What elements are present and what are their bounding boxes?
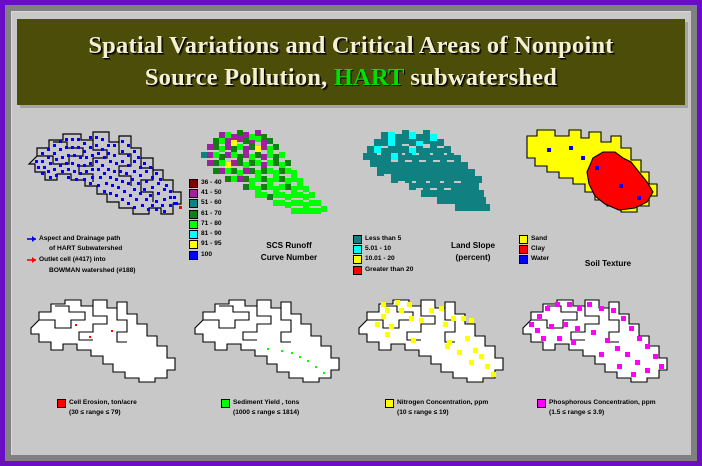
swatch-less-than-5 (353, 235, 362, 244)
panel-aspect-drainage: Aspect and Drainage path of HART Subwate… (23, 122, 189, 282)
legend-caption: Cell Erosion, ton/acre (30 ≤ range ≤ 79) (69, 398, 137, 418)
panel-soil-texture: Sand Clay Water Soil Texture (515, 122, 681, 282)
map-phosphorous-concentration (515, 294, 681, 394)
legend-label: 71 - 80 (201, 219, 222, 229)
legend-item: Greater than 20 (353, 265, 413, 275)
legend-line-2: of HART Subwatershed (39, 244, 122, 254)
swatch-greater-than-20 (353, 266, 362, 275)
swatch-water (519, 255, 528, 264)
legend-line-1: Outlet cell (#417) into (39, 255, 135, 265)
swatch-71-80 (189, 220, 198, 229)
swatch-36-40 (189, 179, 198, 188)
title-line-2: (percent) (431, 252, 515, 264)
caption-line-2: (10 ≤ range ≤ 19) (397, 408, 488, 418)
panel-sediment-yield: Sediment Yield , tons (1000 ≤ range ≤ 18… (187, 294, 353, 450)
map-land-slope (351, 122, 517, 234)
swatch-sediment-yield (221, 399, 230, 408)
legend-label: 100 (201, 250, 212, 260)
legend-item: Sediment Yield , tons (1000 ≤ range ≤ 18… (221, 398, 299, 418)
legend-item: 10.01 - 20 (353, 254, 413, 264)
legend-soil-texture: Sand Clay Water (519, 234, 549, 265)
page-title: Spatial Variations and Critical Areas of… (74, 30, 627, 95)
map-sediment-yield (187, 294, 353, 394)
legend-caption: Sediment Yield , tons (1000 ≤ range ≤ 18… (233, 398, 299, 418)
panel-phosphorous-concentration: Phosphorous Concentration, ppm (1.5 ≤ ra… (515, 294, 681, 450)
legend-label: 36 - 40 (201, 178, 222, 188)
swatch-51-60 (189, 199, 198, 208)
caption-line-1: Cell Erosion, ton/acre (69, 398, 137, 408)
swatch-91-95 (189, 240, 198, 249)
legend-label: 51 - 60 (201, 198, 222, 208)
legend-text-outlet: Outlet cell (#417) into BOWMAN watershed… (39, 255, 135, 275)
legend-label: Greater than 20 (365, 265, 413, 275)
title-line-2: Curve Number (239, 252, 339, 264)
legend-item: 36 - 40 (189, 178, 222, 188)
legend-item: Clay (519, 244, 549, 254)
legend-cell-erosion: Cell Erosion, ton/acre (30 ≤ range ≤ 79) (57, 398, 137, 418)
caption-line-2: (1000 ≤ range ≤ 1814) (233, 408, 299, 418)
legend-item: Sand (519, 234, 549, 244)
map-soil-texture (515, 122, 681, 234)
map-title-scs-runoff: SCS Runoff Curve Number (239, 240, 339, 264)
swatch-cell-erosion (57, 399, 66, 408)
legend-label: Less than 5 (365, 234, 401, 244)
legend-scs-runoff: 36 - 40 41 - 50 51 - 60 61 - 70 71 - 80 … (189, 178, 222, 260)
legend-label: Clay (531, 244, 545, 254)
map-aspect-drainage (23, 122, 189, 234)
legend-item: 51 - 60 (189, 198, 222, 208)
title-line-1: Soil Texture (573, 258, 643, 270)
swatch-10-20 (353, 255, 362, 264)
legend-item: 41 - 50 (189, 188, 222, 198)
swatch-sand (519, 235, 528, 244)
legend-caption: Nitrogen Concentration, ppm (10 ≤ range … (397, 398, 488, 418)
slide-root: Spatial Variations and Critical Areas of… (0, 0, 702, 466)
map-title-land-slope: Land Slope (percent) (431, 240, 515, 264)
panel-land-slope: Less than 5 5.01 - 10 10.01 - 20 Greater… (351, 122, 517, 282)
legend-item: 100 (189, 250, 222, 260)
swatch-5-10 (353, 245, 362, 254)
blue-arrow-marker (27, 235, 36, 243)
legend-label: 10.01 - 20 (365, 254, 395, 264)
legend-label: 81 - 90 (201, 229, 222, 239)
caption-line-2: (30 ≤ range ≤ 79) (69, 408, 137, 418)
swatch-100 (189, 251, 198, 260)
legend-text-aspect: Aspect and Drainage path of HART Subwate… (39, 234, 122, 254)
map-nitrogen-concentration (351, 294, 517, 394)
legend-item: 71 - 80 (189, 219, 222, 229)
legend-item: Nitrogen Concentration, ppm (10 ≤ range … (385, 398, 488, 418)
caption-line-1: Phosphorous Concentration, ppm (549, 398, 656, 408)
title-line-1: SCS Runoff (239, 240, 339, 252)
swatch-41-50 (189, 189, 198, 198)
caption-line-1: Nitrogen Concentration, ppm (397, 398, 488, 408)
legend-sediment-yield: Sediment Yield , tons (1000 ≤ range ≤ 18… (221, 398, 299, 418)
red-arrow-marker (27, 256, 36, 264)
legend-label: Sand (531, 234, 547, 244)
title-line-2-after: subwatershed (404, 64, 557, 91)
legend-land-slope: Less than 5 5.01 - 10 10.01 - 20 Greater… (353, 234, 413, 275)
legend-item: 5.01 - 10 (353, 244, 413, 254)
swatch-nitrogen (385, 399, 394, 408)
swatch-61-70 (189, 210, 198, 219)
legend-label: 41 - 50 (201, 188, 222, 198)
swatch-clay (519, 245, 528, 254)
legend-nitrogen-concentration: Nitrogen Concentration, ppm (10 ≤ range … (385, 398, 488, 418)
legend-item: Phosphorous Concentration, ppm (1.5 ≤ ra… (537, 398, 656, 418)
caption-line-2: (1.5 ≤ range ≤ 3.9) (549, 408, 656, 418)
title-line-1: Spatial Variations and Critical Areas of… (88, 32, 613, 59)
legend-row-aspect: Aspect and Drainage path of HART Subwate… (27, 234, 135, 254)
panel-grid: Aspect and Drainage path of HART Subwate… (17, 118, 685, 450)
legend-label: 91 - 95 (201, 239, 222, 249)
swatch-81-90 (189, 230, 198, 239)
title-line-1: Land Slope (431, 240, 515, 252)
legend-line-1: Aspect and Drainage path (39, 234, 122, 244)
title-banner: Spatial Variations and Critical Areas of… (17, 19, 685, 105)
outlet-cell-marker (179, 206, 182, 209)
panel-nitrogen-concentration: Nitrogen Concentration, ppm (10 ≤ range … (351, 294, 517, 450)
legend-item: 81 - 90 (189, 229, 222, 239)
panel-cell-erosion: Cell Erosion, ton/acre (30 ≤ range ≤ 79) (23, 294, 189, 450)
map-cell-erosion (23, 294, 189, 394)
legend-item: Cell Erosion, ton/acre (30 ≤ range ≤ 79) (57, 398, 137, 418)
map-title-soil-texture: Soil Texture (573, 258, 643, 270)
legend-label: 5.01 - 10 (365, 244, 391, 254)
legend-item: Less than 5 (353, 234, 413, 244)
legend-item: 91 - 95 (189, 239, 222, 249)
legend-label: Water (531, 254, 549, 264)
legend-row-outlet: Outlet cell (#417) into BOWMAN watershed… (27, 255, 135, 275)
legend-label: 61 - 70 (201, 209, 222, 219)
legend-item: Water (519, 254, 549, 264)
legend-phosphorous-concentration: Phosphorous Concentration, ppm (1.5 ≤ ra… (537, 398, 656, 418)
title-line-2-before: Source Pollution, (145, 64, 334, 91)
legend-item: 61 - 70 (189, 209, 222, 219)
legend-line-2: BOWMAN watershed (#188) (39, 266, 135, 276)
title-highlight-hart: HART (334, 64, 404, 91)
panel-scs-runoff-curve-number: 36 - 40 41 - 50 51 - 60 61 - 70 71 - 80 … (187, 122, 353, 282)
swatch-phosphorous (537, 399, 546, 408)
legend-aspect-drainage: Aspect and Drainage path of HART Subwate… (27, 234, 135, 276)
caption-line-1: Sediment Yield , tons (233, 398, 299, 408)
legend-caption: Phosphorous Concentration, ppm (1.5 ≤ ra… (549, 398, 656, 418)
